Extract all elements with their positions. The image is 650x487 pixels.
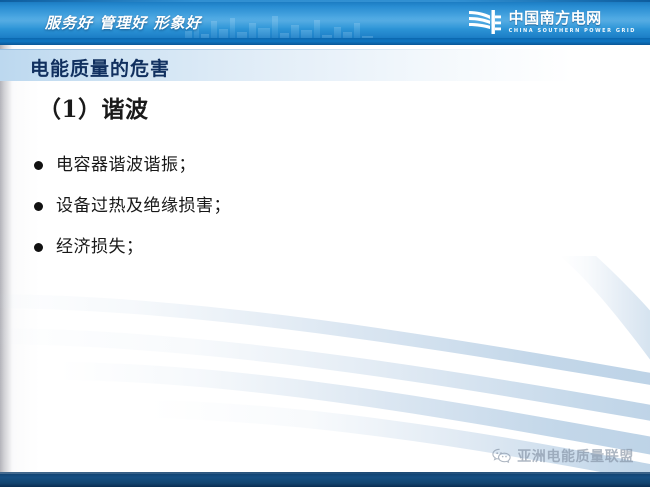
list-item: 设备过热及绝缘损害； (34, 193, 454, 234)
header-bottom-lip (0, 38, 650, 45)
presentation-slide: 服务好 管理好 形象好 中国南方电网 CHINA SOUTHERN POWER … (0, 0, 650, 487)
bullet-dot-icon (34, 161, 43, 170)
csg-logo: 中国南方电网 CHINA SOUTHERN POWER GRID (468, 8, 636, 36)
bullet-list: 电容器谐波谐振； 设备过热及绝缘损害； 经济损失； (34, 152, 454, 275)
csg-logo-text: 中国南方电网 CHINA SOUTHERN POWER GRID (509, 11, 636, 34)
csg-grid-logo-icon (468, 8, 502, 36)
slide-header: 服务好 管理好 形象好 中国南方电网 CHINA SOUTHERN POWER … (0, 0, 650, 45)
slide-subtitle: （1）谐波 (38, 90, 149, 124)
bullet-dot-icon (34, 202, 43, 211)
slide-title: 电能质量的危害 (30, 54, 170, 81)
wechat-icon (492, 448, 511, 464)
bottom-bar-highlight (0, 472, 650, 474)
watermark-label: 亚洲电能质量联盟 (517, 446, 634, 466)
bullet-dot-icon (34, 243, 43, 252)
csg-logo-name-en: CHINA SOUTHERN POWER GRID (509, 29, 636, 34)
header-slogan: 服务好 管理好 形象好 (45, 12, 201, 33)
csg-logo-name-cn: 中国南方电网 (509, 11, 636, 26)
title-band-top-line (0, 49, 650, 50)
list-item: 经济损失； (34, 234, 454, 275)
slide-bottom-bar (0, 472, 650, 487)
list-item: 电容器谐波谐振； (34, 152, 454, 193)
list-item-label: 设备过热及绝缘损害； (56, 193, 231, 219)
list-item-label: 经济损失； (56, 234, 144, 260)
footer-watermark: 亚洲电能质量联盟 (492, 446, 634, 466)
list-item-label: 电容器谐波谐振； (56, 152, 196, 178)
